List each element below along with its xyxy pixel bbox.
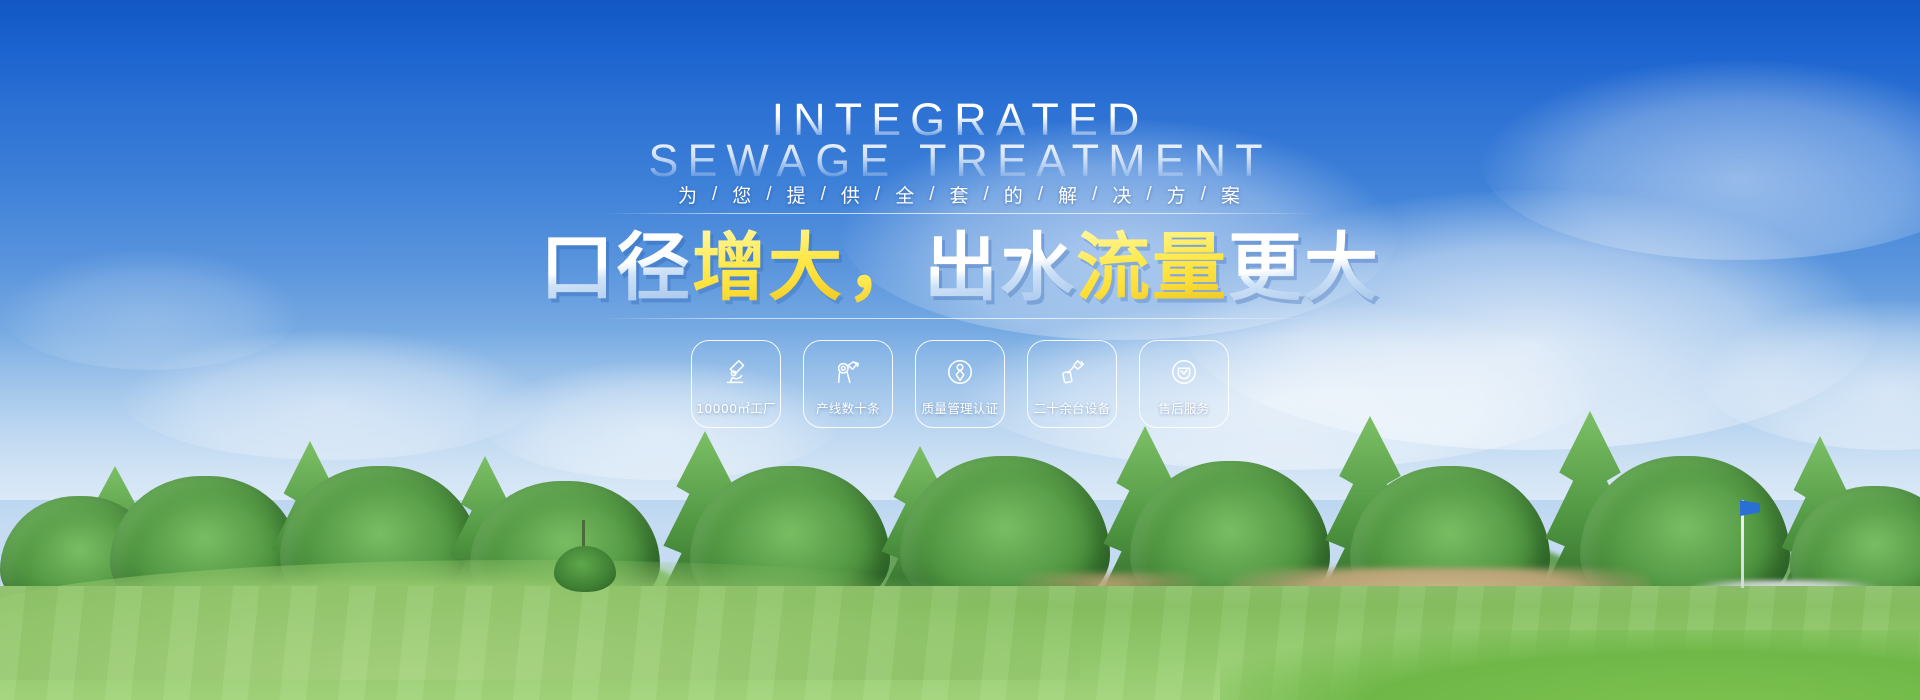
subtitle-word: 套 <box>936 181 983 208</box>
subtitle-separator: / <box>1038 184 1045 206</box>
microscope-icon <box>719 355 753 389</box>
headline-segment-yellow: ， <box>844 226 924 311</box>
equipment-tool-icon <box>1055 355 1089 389</box>
subtitle-word: 的 <box>991 181 1038 208</box>
subtitle-separator: / <box>875 184 882 206</box>
subtitle-word: 供 <box>828 181 875 208</box>
feature-badge-label: 质量管理认证 <box>922 398 999 417</box>
subtitle-separator: / <box>712 184 719 206</box>
headline-segment-white: 出水 <box>924 226 1076 311</box>
subtitle-separator: / <box>929 184 936 206</box>
main-headline: 口径增大，出水流量更大 <box>540 226 1380 311</box>
headline-segment-white: 更大 <box>1228 226 1380 311</box>
headline-segment-yellow: 增大 <box>692 226 844 311</box>
feature-badge-row: 10000㎡工厂产线数十条质量管理认证二十余台设备售后服务 <box>691 340 1229 428</box>
subtitle-slashes: 为/您/提/供/全/套/的/解/决/方/案 <box>665 181 1255 208</box>
subtitle-separator: / <box>1092 184 1099 206</box>
subtitle-word: 决 <box>1099 181 1146 208</box>
feature-badge-label: 二十余台设备 <box>1034 398 1111 417</box>
headline-segment-yellow: 流量 <box>1076 226 1228 311</box>
subtitle-separator: / <box>821 184 828 206</box>
subtitle-word: 您 <box>719 181 766 208</box>
divider-top <box>602 213 1318 214</box>
subtitle-separator: / <box>1146 184 1153 206</box>
headline-segment-white: 口径 <box>540 226 692 311</box>
certificate-medal-icon <box>943 355 977 389</box>
subtitle-word: 为 <box>665 181 712 208</box>
divider-bottom <box>602 318 1318 319</box>
shield-check-icon <box>1167 355 1201 389</box>
feature-badge-5[interactable]: 售后服务 <box>1139 340 1229 428</box>
subtitle-word: 提 <box>774 181 821 208</box>
subtitle-separator: / <box>1201 184 1208 206</box>
subtitle-separator: / <box>766 184 773 206</box>
feature-badge-label: 产线数十条 <box>816 398 880 417</box>
feature-badge-3[interactable]: 质量管理认证 <box>915 340 1005 428</box>
feature-badge-label: 10000㎡工厂 <box>696 398 776 417</box>
subtitle-word: 方 <box>1154 181 1201 208</box>
feature-badge-1[interactable]: 10000㎡工厂 <box>691 340 781 428</box>
subtitle-word: 案 <box>1208 181 1255 208</box>
subtitle-word: 全 <box>882 181 929 208</box>
banner-overlay: INTEGRATED SEWAGE TREATMENT 为/您/提/供/全/套/… <box>0 0 1920 700</box>
english-headline-line-2: SEWAGE TREATMENT <box>360 138 1560 183</box>
english-headline-line-1: INTEGRATED <box>360 97 1560 142</box>
feature-badge-2[interactable]: 产线数十条 <box>803 340 893 428</box>
feature-badge-4[interactable]: 二十余台设备 <box>1027 340 1117 428</box>
production-line-icon <box>831 355 865 389</box>
feature-badge-label: 售后服务 <box>1158 398 1209 417</box>
hero-banner: INTEGRATED SEWAGE TREATMENT 为/您/提/供/全/套/… <box>0 0 1920 700</box>
subtitle-separator: / <box>984 184 991 206</box>
subtitle-word: 解 <box>1045 181 1092 208</box>
